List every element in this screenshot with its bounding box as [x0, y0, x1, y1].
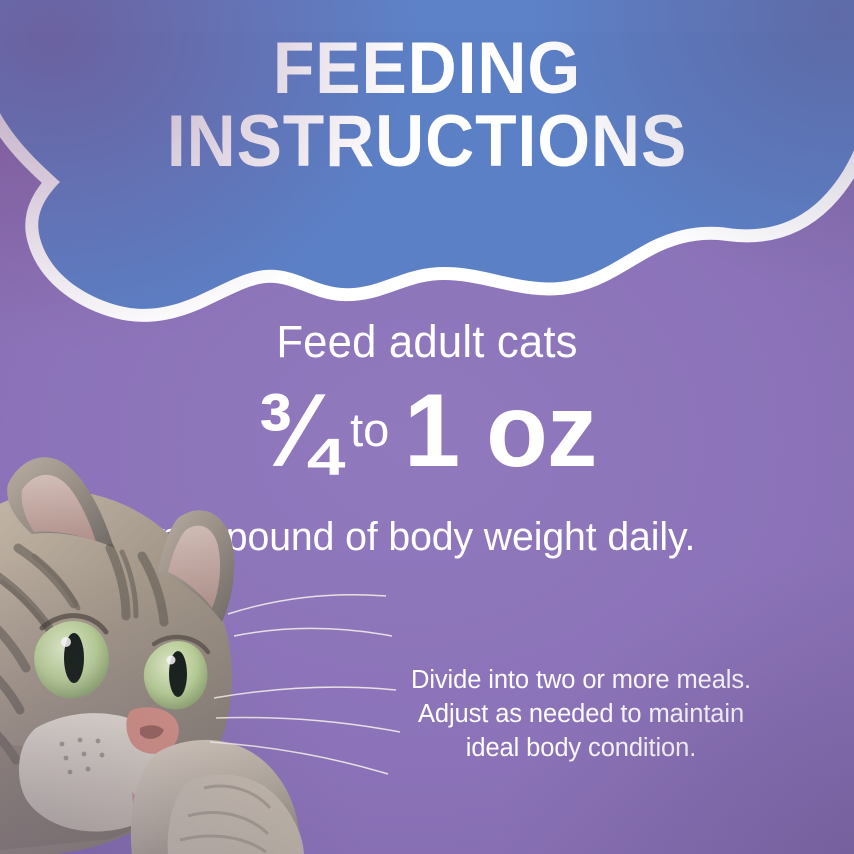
banner-title: FEEDING INSTRUCTIONS — [0, 34, 854, 177]
feeding-note-line2: Adjust as needed to maintain — [366, 698, 796, 732]
cat-paws — [131, 740, 304, 854]
amount-value: 1 oz — [404, 372, 596, 491]
amount-connector: to — [340, 402, 401, 457]
banner-title-line1: FEEDING — [30, 34, 824, 104]
feeding-note-line3: ideal body condition. — [366, 732, 796, 766]
feeding-instructions-panel: FEEDING INSTRUCTIONS Feed adult cats ¾to… — [0, 0, 854, 854]
cat-photo — [0, 452, 402, 854]
feeding-note-line1: Divide into two or more meals. — [366, 664, 796, 698]
feeding-headline: Feed adult cats — [13, 316, 841, 368]
banner-title-line2: INSTRUCTIONS — [30, 107, 824, 177]
feeding-notes: Divide into two or more meals. Adjust as… — [366, 664, 796, 766]
